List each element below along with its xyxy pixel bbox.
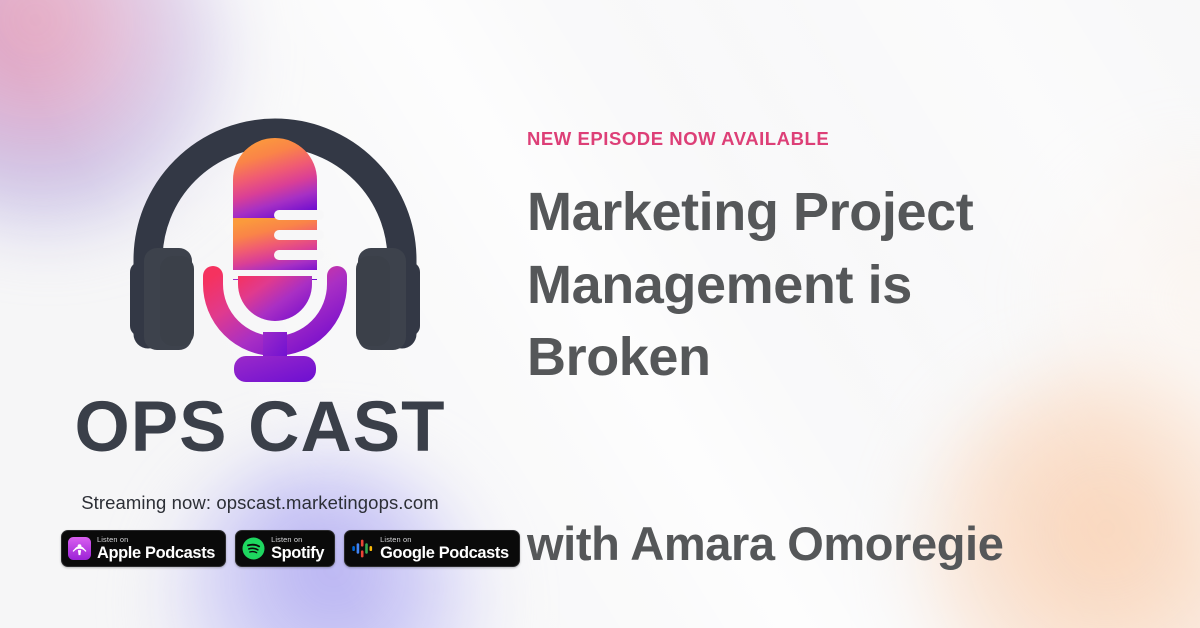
apple-podcasts-icon [68,537,91,560]
spotify-icon [242,537,265,560]
podcast-microphone-headphones-icon [122,84,428,390]
podcast-platform-badges: Listen on Apple Podcasts Listen on Spo [61,530,520,567]
brand-column: OPS CAST Streaming now: opscast.marketin… [0,0,520,628]
apple-podcasts-badge-text: Listen on Apple Podcasts [97,536,215,561]
google-podcasts-badge[interactable]: Listen on Google Podcasts [344,530,520,567]
apple-badge-big-label: Apple Podcasts [97,545,215,561]
episode-title: Marketing Project Management is Broken [527,176,1087,394]
apple-podcasts-badge[interactable]: Listen on Apple Podcasts [61,530,226,567]
spotify-badge-small-label: Listen on [271,536,324,543]
google-badge-big-label: Google Podcasts [380,545,509,561]
episode-availability-eyebrow: NEW EPISODE NOW AVAILABLE [527,128,829,150]
apple-badge-small-label: Listen on [97,536,215,543]
google-podcasts-badge-text: Listen on Google Podcasts [380,536,509,561]
promo-card: OPS CAST Streaming now: opscast.marketin… [0,0,1200,628]
show-title: OPS CAST [0,392,520,463]
spotify-badge-text: Listen on Spotify [271,536,324,561]
spotify-badge-big-label: Spotify [271,545,324,561]
episode-guest-line: with Amara Omoregie [527,518,1187,570]
spotify-badge[interactable]: Listen on Spotify [235,530,335,567]
google-podcasts-icon [351,537,374,560]
google-badge-small-label: Listen on [380,536,509,543]
episode-info-column: NEW EPISODE NOW AVAILABLE Marketing Proj… [527,0,1200,628]
streaming-url-line: Streaming now: opscast.marketingops.com [0,492,520,514]
